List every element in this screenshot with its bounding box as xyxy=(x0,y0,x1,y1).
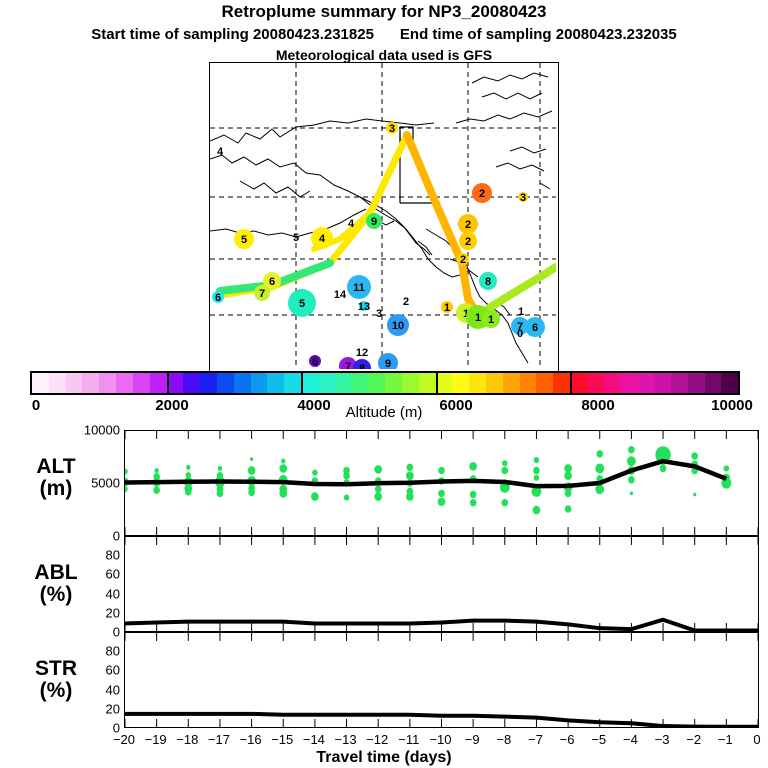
y-tick-label: 20 xyxy=(60,605,120,620)
x-tick-label: −4 xyxy=(623,732,638,747)
retroplume-map[interactable]: 3423222811111760554496675141113321012678… xyxy=(209,62,559,372)
cluster-marker-label: 4 xyxy=(319,233,326,245)
cluster-marker-label: 1 xyxy=(518,306,524,318)
x-tick-label: −3 xyxy=(655,732,670,747)
y-tick-label: 5000 xyxy=(60,476,120,491)
x-tick-label: −14 xyxy=(303,732,325,747)
x-tick-label: −10 xyxy=(429,732,451,747)
x-tick-label: −12 xyxy=(366,732,388,747)
colorbar-cell xyxy=(335,373,352,393)
colorbar-cell xyxy=(436,373,453,393)
colorbar-cell xyxy=(469,373,486,393)
colorbar-cell xyxy=(671,373,688,393)
cluster-marker-label: 2 xyxy=(403,296,409,308)
y-tick-label: 60 xyxy=(60,567,120,582)
cluster-marker-label: 4 xyxy=(348,218,355,230)
alt-mean-line xyxy=(125,461,726,486)
y-tick-label: 40 xyxy=(60,586,120,601)
end-time-text: End time of sampling 20080423.232035 xyxy=(400,26,677,43)
colorbar-cell xyxy=(32,373,49,393)
x-tick-label: −2 xyxy=(686,732,701,747)
colorbar-cell xyxy=(183,373,200,393)
str-plot-graphic xyxy=(125,633,758,727)
colorbar-cell xyxy=(301,373,318,393)
colorbar-cell xyxy=(637,373,654,393)
colorbar-cell xyxy=(402,373,419,393)
str-plot-panel[interactable] xyxy=(124,632,759,728)
colorbar-cell xyxy=(385,373,402,393)
map-graticule xyxy=(210,63,556,369)
str-y-axis-ticks: 020406080 xyxy=(58,632,120,728)
colorbar-axis-label: Altitude (m) xyxy=(0,404,768,421)
x-tick-label: −1 xyxy=(718,732,733,747)
cluster-marker-label: 6 xyxy=(312,356,318,368)
colorbar-cell xyxy=(520,373,537,393)
colorbar-cell xyxy=(688,373,705,393)
y-tick-label: 10000 xyxy=(60,423,120,438)
colorbar-cell xyxy=(705,373,722,393)
colorbar-cell xyxy=(503,373,520,393)
colorbar-cell xyxy=(419,373,436,393)
y-tick-label: 80 xyxy=(60,548,120,563)
x-tick-label: −13 xyxy=(335,732,357,747)
colorbar-cell xyxy=(368,373,385,393)
colorbar-cell xyxy=(82,373,99,393)
colorbar-gradient xyxy=(30,371,740,395)
cluster-marker-label: 6 xyxy=(532,322,538,334)
colorbar-cell xyxy=(167,373,184,393)
cluster-marker-label: 2 xyxy=(465,236,471,248)
x-tick-label: −6 xyxy=(560,732,575,747)
abl-plot-panel[interactable] xyxy=(124,536,759,632)
cluster-marker-label: 11 xyxy=(353,282,365,294)
cluster-marker-label: 1 xyxy=(444,302,450,314)
alt-y-axis-ticks: 0500010000 xyxy=(58,430,120,536)
y-tick-label: 60 xyxy=(60,663,120,678)
cluster-marker-label: 3 xyxy=(389,123,395,135)
x-tick-label: −16 xyxy=(240,732,262,747)
altitude-colorbar: 0200040006000800010000 xyxy=(30,371,740,395)
cluster-marker-label: 3 xyxy=(520,192,526,204)
y-tick-label: 0 xyxy=(60,721,120,736)
cluster-marker-label: 1 xyxy=(488,314,494,326)
cluster-marker-label: 12 xyxy=(356,347,368,359)
colorbar-cell xyxy=(318,373,335,393)
x-tick-label: −19 xyxy=(145,732,167,747)
cluster-marker-label: 5 xyxy=(293,232,299,244)
colorbar-cell xyxy=(553,373,570,393)
cluster-marker-label: 2 xyxy=(465,219,471,231)
cluster-marker-label: 9 xyxy=(385,358,391,369)
alt-plot-graphic xyxy=(125,431,758,535)
x-tick-label: −9 xyxy=(465,732,480,747)
colorbar-cell xyxy=(66,373,83,393)
map-cluster-markers: 3423222811111760554496675141113321012678… xyxy=(212,122,545,369)
y-tick-label: 40 xyxy=(60,682,120,697)
abl-axis-ticks xyxy=(125,537,758,631)
cluster-marker-label: 5 xyxy=(241,234,247,246)
colorbar-cell xyxy=(721,373,738,393)
cluster-marker-label: 0 xyxy=(517,328,523,340)
cluster-marker-label: 3 xyxy=(376,308,382,320)
alt-plot-panel[interactable] xyxy=(124,430,759,536)
cluster-marker-label: 10 xyxy=(392,320,404,332)
x-tick-label: −20 xyxy=(113,732,135,747)
colorbar-cell xyxy=(587,373,604,393)
y-tick-label: 20 xyxy=(60,701,120,716)
cluster-marker-label: 8 xyxy=(359,363,365,369)
colorbar-cell xyxy=(284,373,301,393)
colorbar-cell xyxy=(654,373,671,393)
colorbar-cell xyxy=(217,373,234,393)
x-tick-label: −17 xyxy=(208,732,230,747)
colorbar-cell xyxy=(234,373,251,393)
cluster-marker-label: 2 xyxy=(479,188,485,200)
colorbar-cell xyxy=(116,373,133,393)
start-time-text: Start time of sampling 20080423.231825 xyxy=(91,26,374,43)
colorbar-cell xyxy=(133,373,150,393)
colorbar-cell xyxy=(49,373,66,393)
colorbar-cell xyxy=(267,373,284,393)
colorbar-cell xyxy=(536,373,553,393)
colorbar-cell xyxy=(351,373,368,393)
colorbar-cell xyxy=(604,373,621,393)
cluster-marker-label: 6 xyxy=(215,292,221,304)
cluster-marker-label: 7 xyxy=(345,361,351,369)
x-tick-label: −15 xyxy=(271,732,293,747)
x-axis-label: Travel time (days) xyxy=(0,749,768,767)
colorbar-cell xyxy=(486,373,503,393)
x-tick-label: −11 xyxy=(398,732,419,747)
abl-plot-graphic xyxy=(125,537,758,631)
cluster-marker-label: 4 xyxy=(217,146,224,158)
colorbar-cell xyxy=(150,373,167,393)
cluster-marker-label: 2 xyxy=(460,254,466,266)
page-title: Retroplume summary for NP3_20080423 xyxy=(0,2,768,22)
cluster-marker-label: 13 xyxy=(358,301,370,313)
met-data-text: Meteorological data used is GFS xyxy=(0,47,768,63)
sampling-times: Start time of sampling 20080423.231825En… xyxy=(0,26,768,43)
cluster-marker-label: 1 xyxy=(475,312,481,324)
x-tick-label: −8 xyxy=(496,732,511,747)
colorbar-cell xyxy=(620,373,637,393)
colorbar-cell xyxy=(251,373,268,393)
colorbar-cell xyxy=(200,373,217,393)
colorbar-cell xyxy=(570,373,587,393)
x-tick-label: −5 xyxy=(591,732,606,747)
abl-y-axis-ticks: 020406080 xyxy=(58,536,120,632)
map-graphic: 3423222811111760554496675141113321012678… xyxy=(210,63,556,369)
x-tick-label: −18 xyxy=(176,732,198,747)
x-tick-label: −7 xyxy=(528,732,543,747)
y-tick-label: 80 xyxy=(60,644,120,659)
cluster-marker-label: 5 xyxy=(299,298,305,310)
cluster-marker-label: 9 xyxy=(371,216,377,228)
cluster-marker-label: 8 xyxy=(485,276,491,288)
cluster-marker-label: 6 xyxy=(269,276,275,288)
cluster-marker-label: 14 xyxy=(334,289,347,301)
colorbar-cell xyxy=(99,373,116,393)
x-tick-label: 0 xyxy=(753,732,760,747)
cluster-marker-label: 7 xyxy=(259,288,265,300)
colorbar-cell xyxy=(452,373,469,393)
